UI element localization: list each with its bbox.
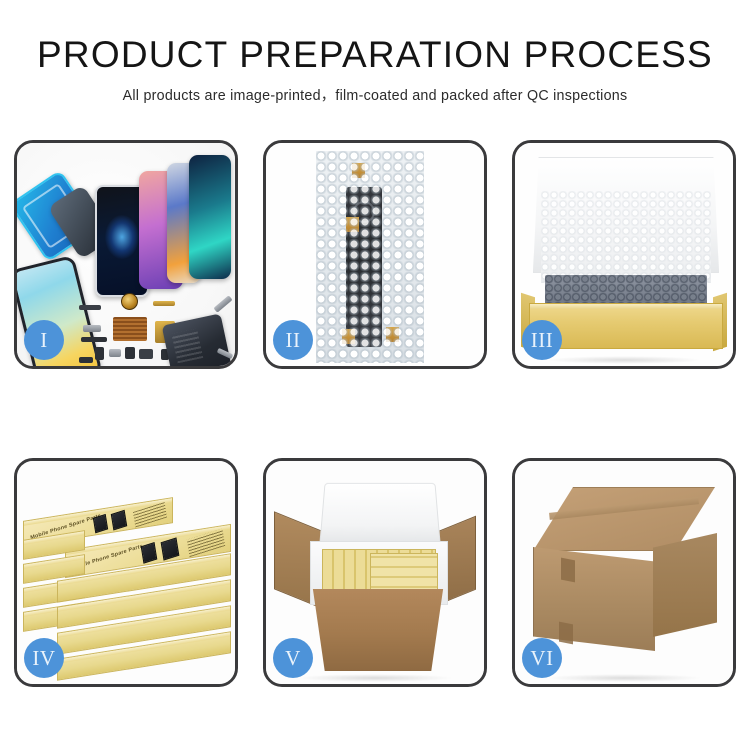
carton-front-face: [533, 547, 655, 651]
process-step-panel-4: Mobile Phone Spare Parts Mobile Phone Sp…: [14, 458, 238, 687]
carton-body: [304, 589, 452, 671]
step-badge-4: IV: [24, 638, 64, 678]
process-step-panel-2: II: [263, 140, 487, 369]
process-step-grid: I II: [14, 140, 736, 687]
process-step-panel-5: V: [263, 458, 487, 687]
process-step-panel-1: I: [14, 140, 238, 369]
step-badge-1: I: [24, 320, 64, 360]
tape-mid: [346, 217, 359, 232]
process-step-panel-6: VI: [512, 458, 736, 687]
step-badge-6: VI: [522, 638, 562, 678]
bubble-wrap-bag: [316, 151, 424, 363]
tape-patch-upper: [561, 558, 575, 583]
foam-liner: [541, 191, 711, 283]
drop-shadow: [297, 674, 454, 682]
drop-shadow: [546, 356, 703, 364]
drop-shadow: [546, 674, 703, 682]
phone-teal: [189, 155, 231, 279]
tape-bottom-right: [386, 327, 399, 342]
page-title: PRODUCT PREPARATION PROCESS: [0, 34, 750, 75]
carton-side-face: [653, 533, 717, 637]
tape-bottom-left: [342, 329, 355, 344]
page-subtitle: All products are image-printed，film-coat…: [0, 84, 750, 105]
tape-top: [352, 163, 365, 178]
infographic-page: PRODUCT PREPARATION PROCESS All products…: [0, 0, 750, 750]
step-badge-5: V: [273, 638, 313, 678]
step-badge-2: II: [273, 320, 313, 360]
header: PRODUCT PREPARATION PROCESS All products…: [0, 34, 750, 105]
step-badge-3: III: [522, 320, 562, 360]
tape-patch-lower: [559, 622, 573, 645]
wrapped-phone-part: [346, 187, 382, 347]
process-step-panel-3: III: [512, 140, 736, 369]
foam-lid: [319, 483, 441, 546]
